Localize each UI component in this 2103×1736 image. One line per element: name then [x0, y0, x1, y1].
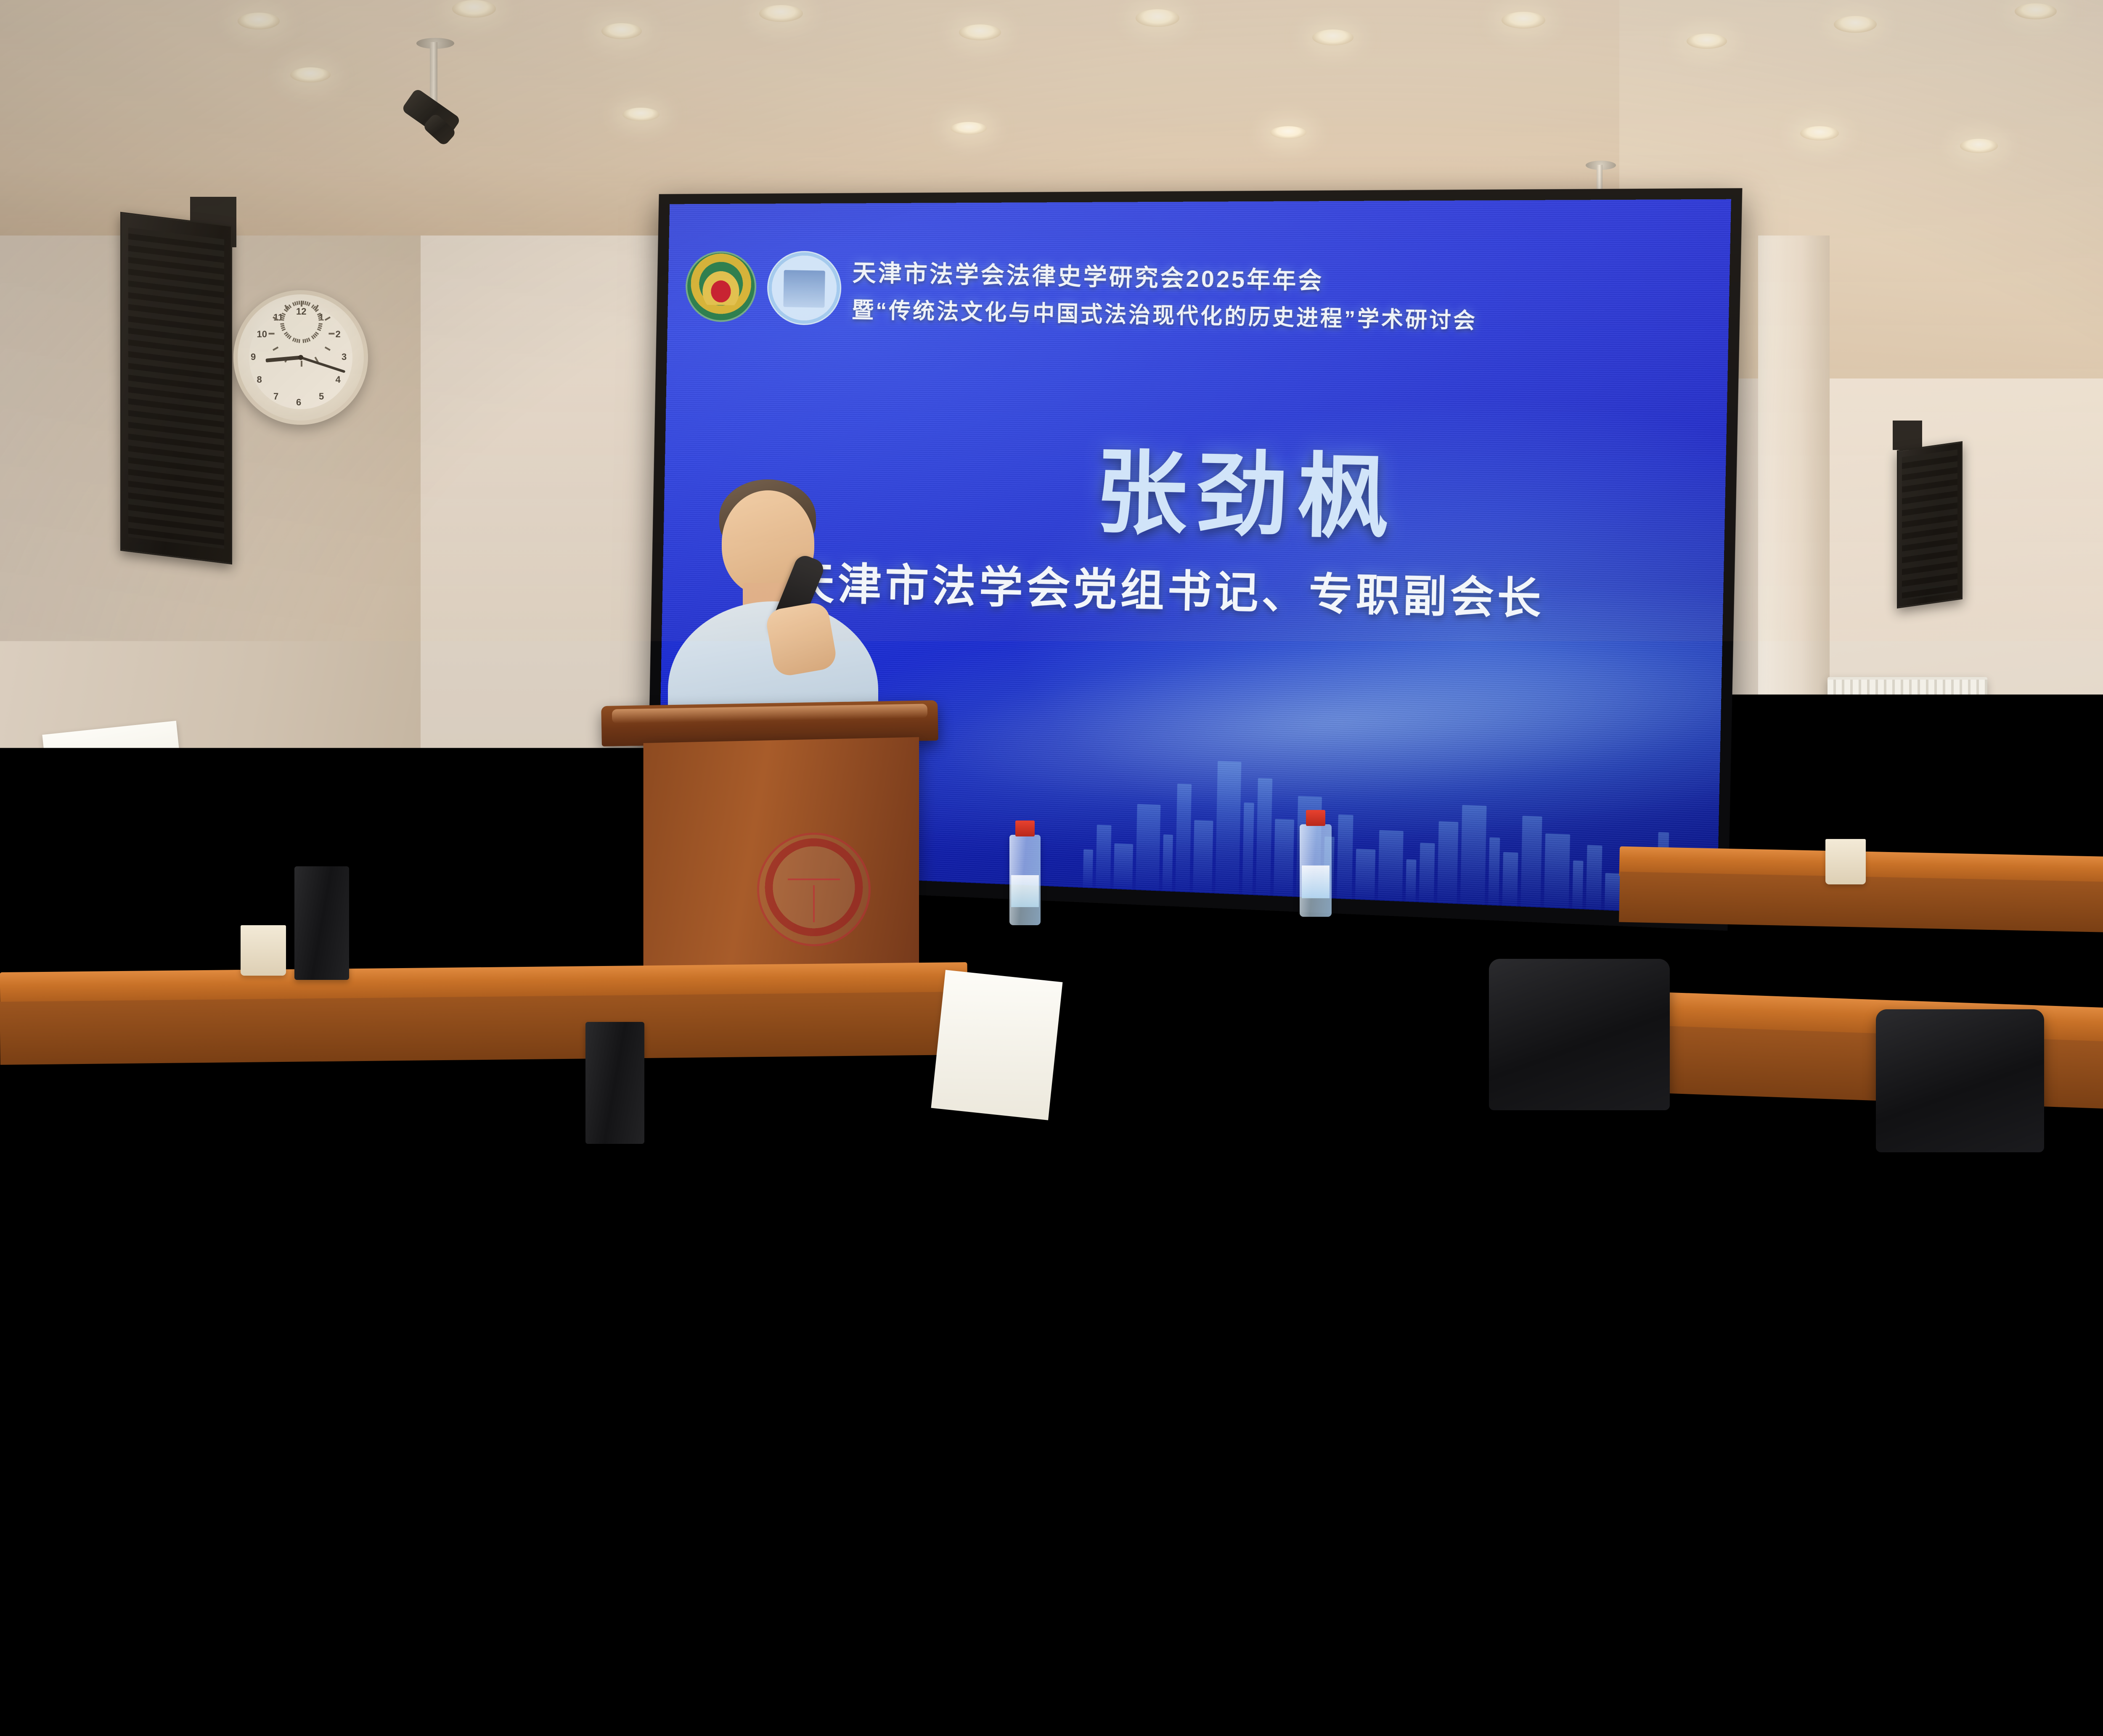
- clock-numeral: 6: [296, 397, 301, 408]
- audience-member-hair: [80, 1193, 250, 1401]
- ceiling-downlight: [622, 108, 660, 121]
- audience-member-hair: [1088, 806, 1149, 849]
- audience-member-hair: [2080, 891, 2103, 950]
- nameplate-name: 王杨: [292, 1013, 343, 1048]
- skyline-building: [1255, 778, 1272, 896]
- clock-numeral: 12: [296, 306, 306, 317]
- audience-member-torso: [1909, 768, 1996, 838]
- screen-header: 天津市法学会法律史学研究会2025年年会 暨“传统法文化与中国式法治现代化的历史…: [685, 231, 1654, 357]
- ceiling-downlight: [759, 5, 803, 22]
- clock-numeral: 8: [257, 374, 262, 385]
- audience-member-hair: [910, 882, 991, 981]
- bottle-cap: [1306, 810, 1325, 826]
- clock-numeral: 7: [273, 391, 278, 402]
- clock-numeral: 2: [336, 329, 341, 340]
- ceiling-downlight: [1312, 29, 1353, 45]
- ceiling-downlight: [1834, 16, 1877, 33]
- screen-speaker-name: 张劲枫: [1094, 418, 1400, 556]
- audience-member: [1834, 1253, 2085, 1659]
- audience-member: [622, 1009, 773, 1253]
- audience-member-hair: [1476, 1031, 1592, 1174]
- audience-member-torso: [1262, 1435, 1647, 1736]
- audience-member-hair: [642, 1014, 754, 1093]
- clock-tick: [301, 361, 302, 367]
- audience-member: [496, 1220, 748, 1626]
- nameplate-logo-white-icon: [364, 908, 379, 924]
- conference-photo: 121234567891011 天津市法学会法律史学研究会2025年年会: [0, 0, 2103, 1736]
- audience-member: [1321, 1236, 1589, 1669]
- clock-center-pin: [298, 355, 303, 360]
- ceiling-downlight: [238, 13, 280, 29]
- audience-member-hair: [1310, 849, 1391, 905]
- audience-member-hair: [2014, 742, 2059, 797]
- clock-tick: [308, 302, 310, 306]
- screen-header-lines: 天津市法学会法律史学研究会2025年年会 暨“传统法文化与中国式法治现代化的历史…: [852, 254, 1478, 335]
- skyline-building: [1242, 802, 1254, 895]
- speaker-hand: [764, 601, 838, 678]
- wall-speaker-left: [120, 212, 232, 565]
- ceiling-downlight: [1960, 139, 1998, 153]
- screen-header-line1: 天津市法学会法律史学研究会2025年年会: [852, 254, 1478, 299]
- audience-member-hair: [2022, 1023, 2103, 1102]
- audience-member-hair: [404, 853, 479, 905]
- audience-member-hair: [1749, 1048, 1864, 1128]
- screen-header-line2: 暨“传统法文化与中国式法治现代化的历史进程”学术研讨会: [852, 292, 1478, 335]
- audience-member: [1905, 858, 2017, 1038]
- clock-numeral: 9: [251, 352, 256, 363]
- speaker-grille-right: [1902, 450, 1957, 601]
- ceiling-downlight: [1502, 12, 1545, 29]
- paper-cup[interactable]: [1825, 839, 1866, 884]
- audience-member-torso: [1623, 851, 1739, 945]
- clock-tick: [269, 333, 275, 334]
- audience-member-hair: [1920, 862, 2002, 919]
- skyline-building: [1274, 819, 1294, 897]
- ceiling-downlight: [959, 24, 1001, 40]
- speaker-bracket-right: [1893, 421, 1922, 450]
- audience-member: [1295, 845, 1405, 1022]
- clock-tick: [302, 301, 304, 304]
- ceiling-downlight: [1687, 34, 1727, 49]
- audience-member-hair: [1142, 870, 1224, 928]
- clock-tick: [301, 301, 302, 307]
- clock-numeral: 10: [257, 329, 267, 340]
- audience-member-hair: [1482, 772, 1539, 812]
- audience-member: [2002, 1018, 2103, 1265]
- audience-member: [2006, 740, 2066, 837]
- audience-member: [1737, 879, 1846, 1056]
- paper-cup[interactable]: [241, 925, 286, 976]
- wall-clock: 121234567891011: [233, 290, 368, 425]
- speaker-grille: [128, 228, 225, 549]
- wall-speaker-right: [1897, 441, 1963, 609]
- clock-numeral: 5: [319, 391, 324, 402]
- ceiling-downlight: [452, 0, 496, 18]
- ceiling-downlight: [290, 67, 331, 82]
- audience-member-hair: [1930, 725, 1975, 757]
- audience-member-hair: [1470, 879, 1554, 937]
- audience-member-hair: [767, 857, 846, 913]
- audience-member: [391, 849, 492, 1012]
- ceiling-downlight: [1270, 126, 1306, 139]
- audience-member: [50, 1186, 280, 1557]
- nameplate-logo-gold-icon: [347, 910, 361, 924]
- audience-member-hair: [1651, 793, 1711, 835]
- audience-member-hair: [950, 1220, 1140, 1352]
- clock-numeral: 4: [336, 374, 341, 385]
- audience-member: [1640, 791, 1721, 921]
- audience-member: [753, 854, 860, 1027]
- audience-member-hair: [1356, 1245, 1554, 1384]
- clock-numeral: 3: [342, 352, 347, 363]
- audience-member-hair: [1751, 882, 1832, 981]
- audience-member-hair: [389, 1031, 498, 1163]
- china-law-society-emblem: [685, 251, 757, 323]
- skyline-building: [1572, 860, 1584, 909]
- audience-member-torso: [369, 924, 514, 1041]
- clock-tick: [297, 301, 299, 305]
- ceiling-downlight: [951, 122, 987, 135]
- ceiling-downlight: [601, 23, 642, 39]
- audience-member-torso: [441, 1406, 803, 1699]
- audience-member: [1195, 1001, 1350, 1252]
- audience-member-hair: [529, 1228, 715, 1358]
- skyline-building: [1586, 845, 1602, 910]
- ceiling-downlight: [2015, 3, 2057, 19]
- printed-document[interactable]: [42, 721, 185, 818]
- nameplate-name: 戴子贺: [1077, 1093, 1153, 1130]
- audience-member-hair: [569, 878, 646, 932]
- clock-tick: [299, 301, 300, 304]
- audience-member-hair: [1867, 1261, 2053, 1489]
- ceiling-downlight: [1136, 9, 1179, 27]
- audience-member-hair: [920, 1023, 1033, 1102]
- audience-member-hair: [1215, 1006, 1330, 1086]
- audience-member-hair: [162, 1006, 267, 1079]
- ceiling-downlight: [1800, 126, 1839, 140]
- university-emblem: [767, 250, 842, 325]
- audience-member: [370, 1026, 516, 1263]
- audience-member-torso: [861, 1402, 1231, 1701]
- audience-member: [1922, 723, 1982, 820]
- audience-member: [917, 1211, 1174, 1626]
- clock-tick: [328, 333, 334, 334]
